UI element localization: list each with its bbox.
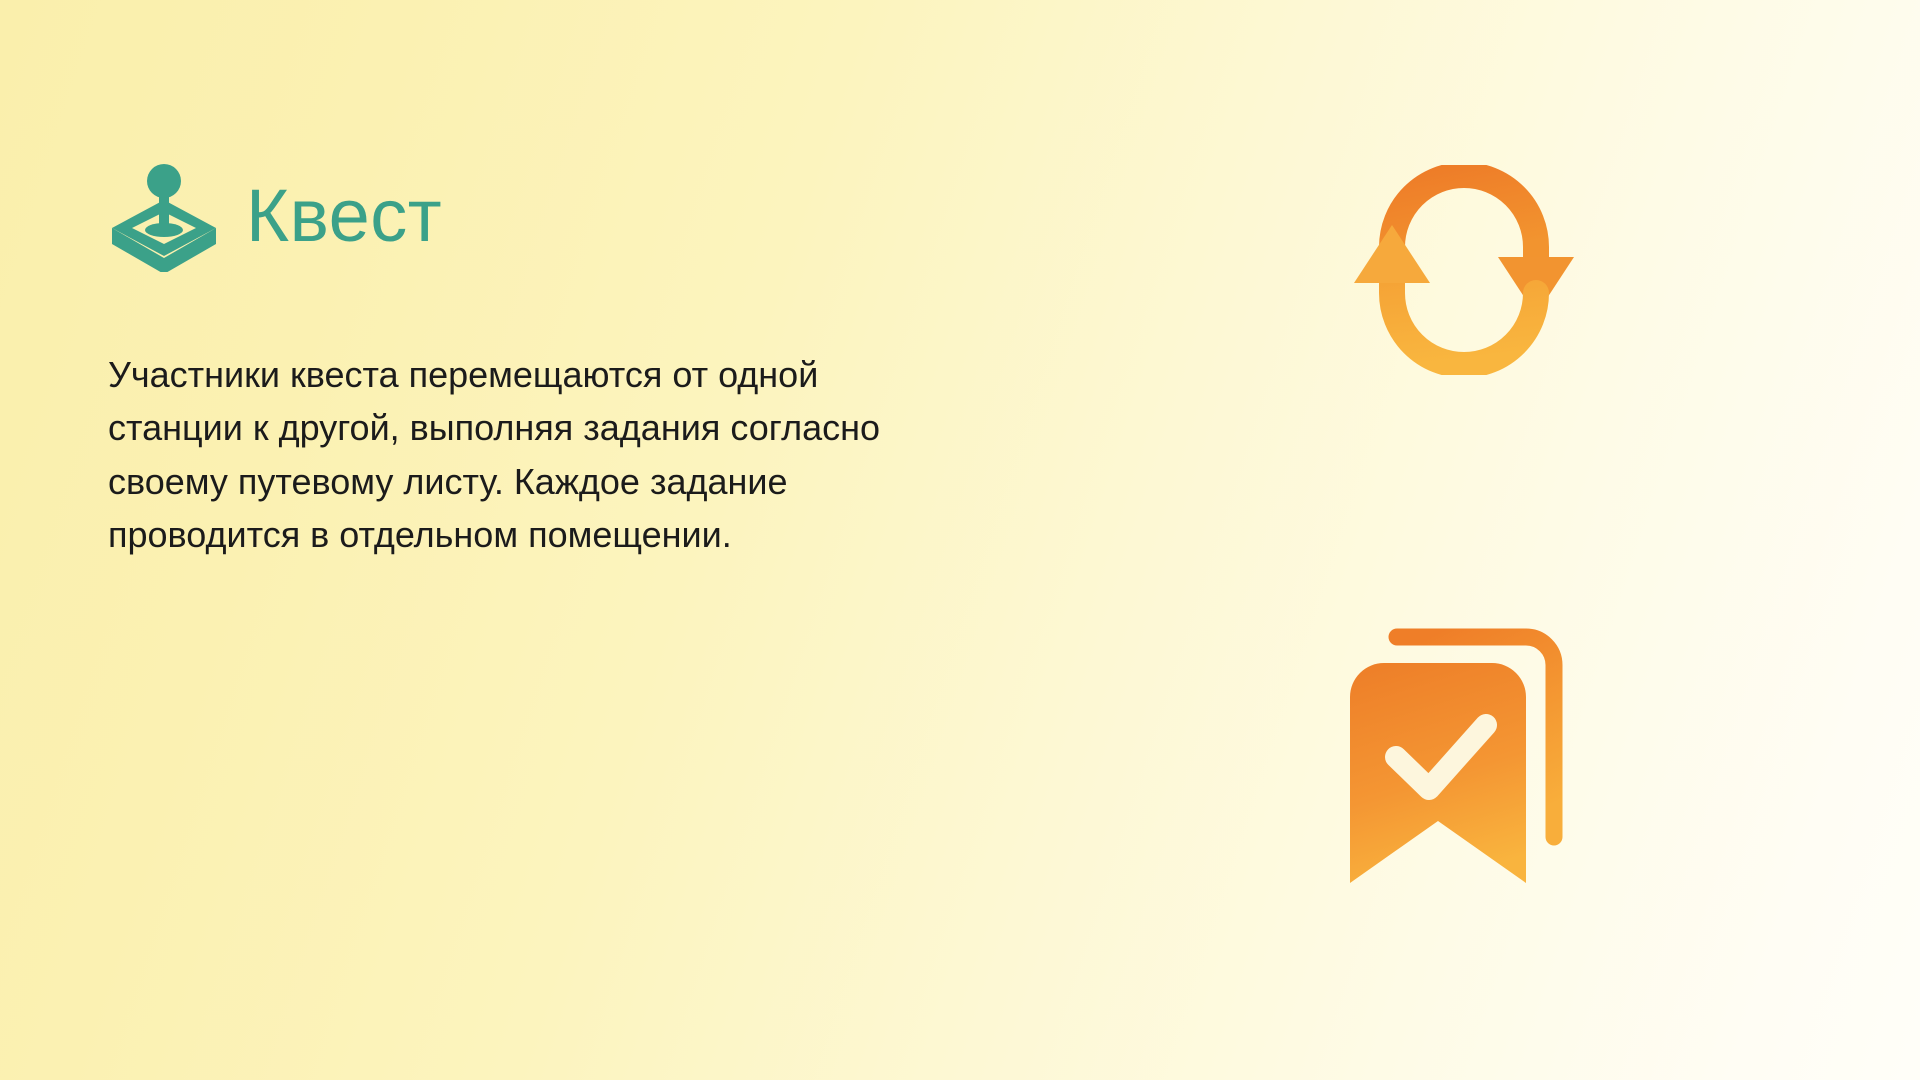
paragraph-line: Участники квеста перемещаются от одной (108, 348, 1038, 401)
bookmark-check-icon (1340, 615, 1580, 900)
description-paragraph: Участники квеста перемещаются от одной с… (108, 348, 1038, 561)
page-header: Квест (108, 160, 1068, 272)
page-title: Квест (246, 179, 442, 253)
content-column: Квест Участники квеста перемещаются от о… (108, 160, 1068, 561)
paragraph-line: проводится в отдельном помещении. (108, 508, 1038, 561)
joystick-icon (108, 160, 220, 272)
paragraph-line: станции к другой, выполняя задания согла… (108, 401, 1038, 454)
paragraph-line: своему путевому листу. Каждое задание (108, 455, 1038, 508)
refresh-cycle-icon (1330, 165, 1598, 375)
